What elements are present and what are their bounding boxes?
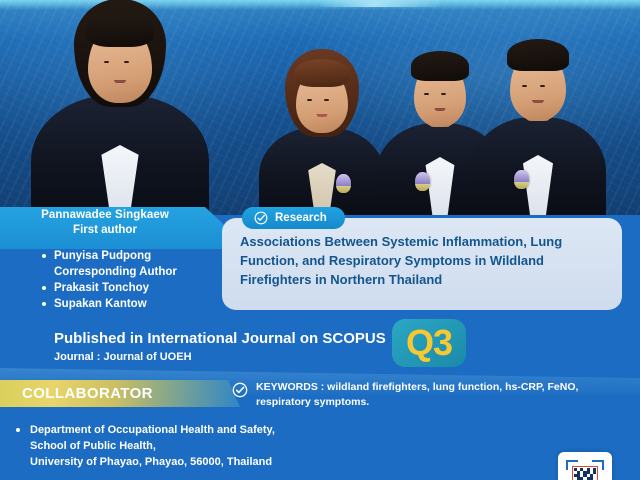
person-2	[262, 35, 382, 215]
collaborator-heading: COLLABORATOR	[22, 385, 153, 402]
research-poster: Pannawadee Singkaew First author Punyisa…	[0, 0, 640, 480]
list-item: Supakan Kantow	[40, 296, 240, 312]
quartile-value: Q3	[406, 325, 452, 361]
published-line: Published in International Journal on SC…	[54, 330, 386, 347]
keywords-line-2: respiratory symptoms.	[256, 395, 578, 410]
university-pin-icon	[514, 170, 529, 189]
list-item: Prakasit Tonchoy	[40, 280, 240, 296]
collaborator-list: Department of Occupational Health and Sa…	[12, 422, 322, 470]
journal-line: Journal : Journal of UOEH	[54, 351, 192, 363]
check-circle-icon	[232, 382, 248, 398]
list-item: School of Public Health,	[12, 438, 322, 454]
check-circle-icon	[254, 211, 268, 225]
first-author-role: First author	[0, 224, 210, 236]
research-title-card: Associations Between Systemic Inflammati…	[222, 218, 622, 310]
keywords-section: KEYWORDS : wildland firefighters, lung f…	[232, 380, 632, 410]
list-item: Punyisa Pudpong	[40, 248, 240, 264]
co-author-list: Punyisa Pudpong Corresponding Author Pra…	[40, 248, 240, 312]
list-item-role: Corresponding Author	[40, 264, 240, 280]
team-photo	[0, 0, 640, 215]
research-badge: Research	[242, 207, 345, 229]
first-author-name: Pannawadee Singkaew	[0, 209, 210, 221]
scopus-quartile-badge: Q3	[392, 319, 466, 367]
list-item: University of Phayao, Phayao, 56000, Tha…	[12, 454, 322, 470]
page-title: Associations Between Systemic Inflammati…	[240, 232, 606, 289]
qr-code[interactable]	[572, 466, 598, 480]
person-1	[30, 0, 210, 215]
list-item: Department of Occupational Health and Sa…	[12, 422, 322, 438]
university-pin-icon	[336, 174, 351, 193]
top-light-strip	[320, 0, 440, 7]
person-4	[472, 20, 604, 215]
research-badge-label: Research	[275, 212, 327, 224]
keywords-line-1: KEYWORDS : wildland firefighters, lung f…	[256, 380, 578, 395]
university-pin-icon	[415, 172, 430, 191]
